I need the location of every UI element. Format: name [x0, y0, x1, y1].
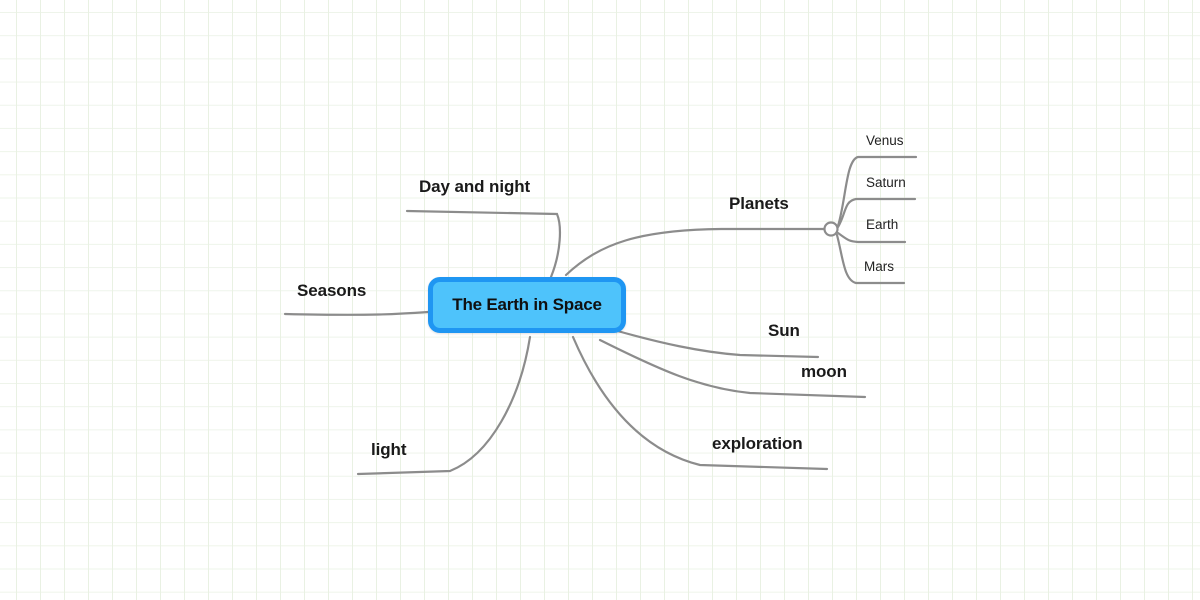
node-day-and-night[interactable]: Day and night [419, 177, 530, 197]
branch-path-venus [838, 157, 916, 226]
node-saturn[interactable]: Saturn [866, 175, 906, 190]
node-moon[interactable]: moon [801, 362, 847, 382]
node-exploration[interactable]: exploration [712, 434, 803, 454]
node-light[interactable]: light [371, 440, 406, 460]
node-venus[interactable]: Venus [866, 133, 904, 148]
branch-path-day-and-night [407, 211, 560, 277]
node-earth[interactable]: Earth [866, 217, 898, 232]
node-planets[interactable]: Planets [729, 194, 789, 214]
node-sun[interactable]: Sun [768, 321, 800, 341]
node-mars[interactable]: Mars [864, 259, 894, 274]
branch-path-earth [838, 233, 905, 242]
root-node-label: The Earth in Space [452, 295, 601, 315]
planets-hub-circle[interactable] [825, 223, 838, 236]
root-node[interactable]: The Earth in Space [428, 277, 626, 333]
branch-path-planets [566, 229, 825, 275]
node-seasons[interactable]: Seasons [297, 281, 366, 301]
mindmap-canvas[interactable]: The Earth in Space Day and night Seasons… [0, 0, 1200, 600]
branch-path-seasons [285, 312, 428, 315]
